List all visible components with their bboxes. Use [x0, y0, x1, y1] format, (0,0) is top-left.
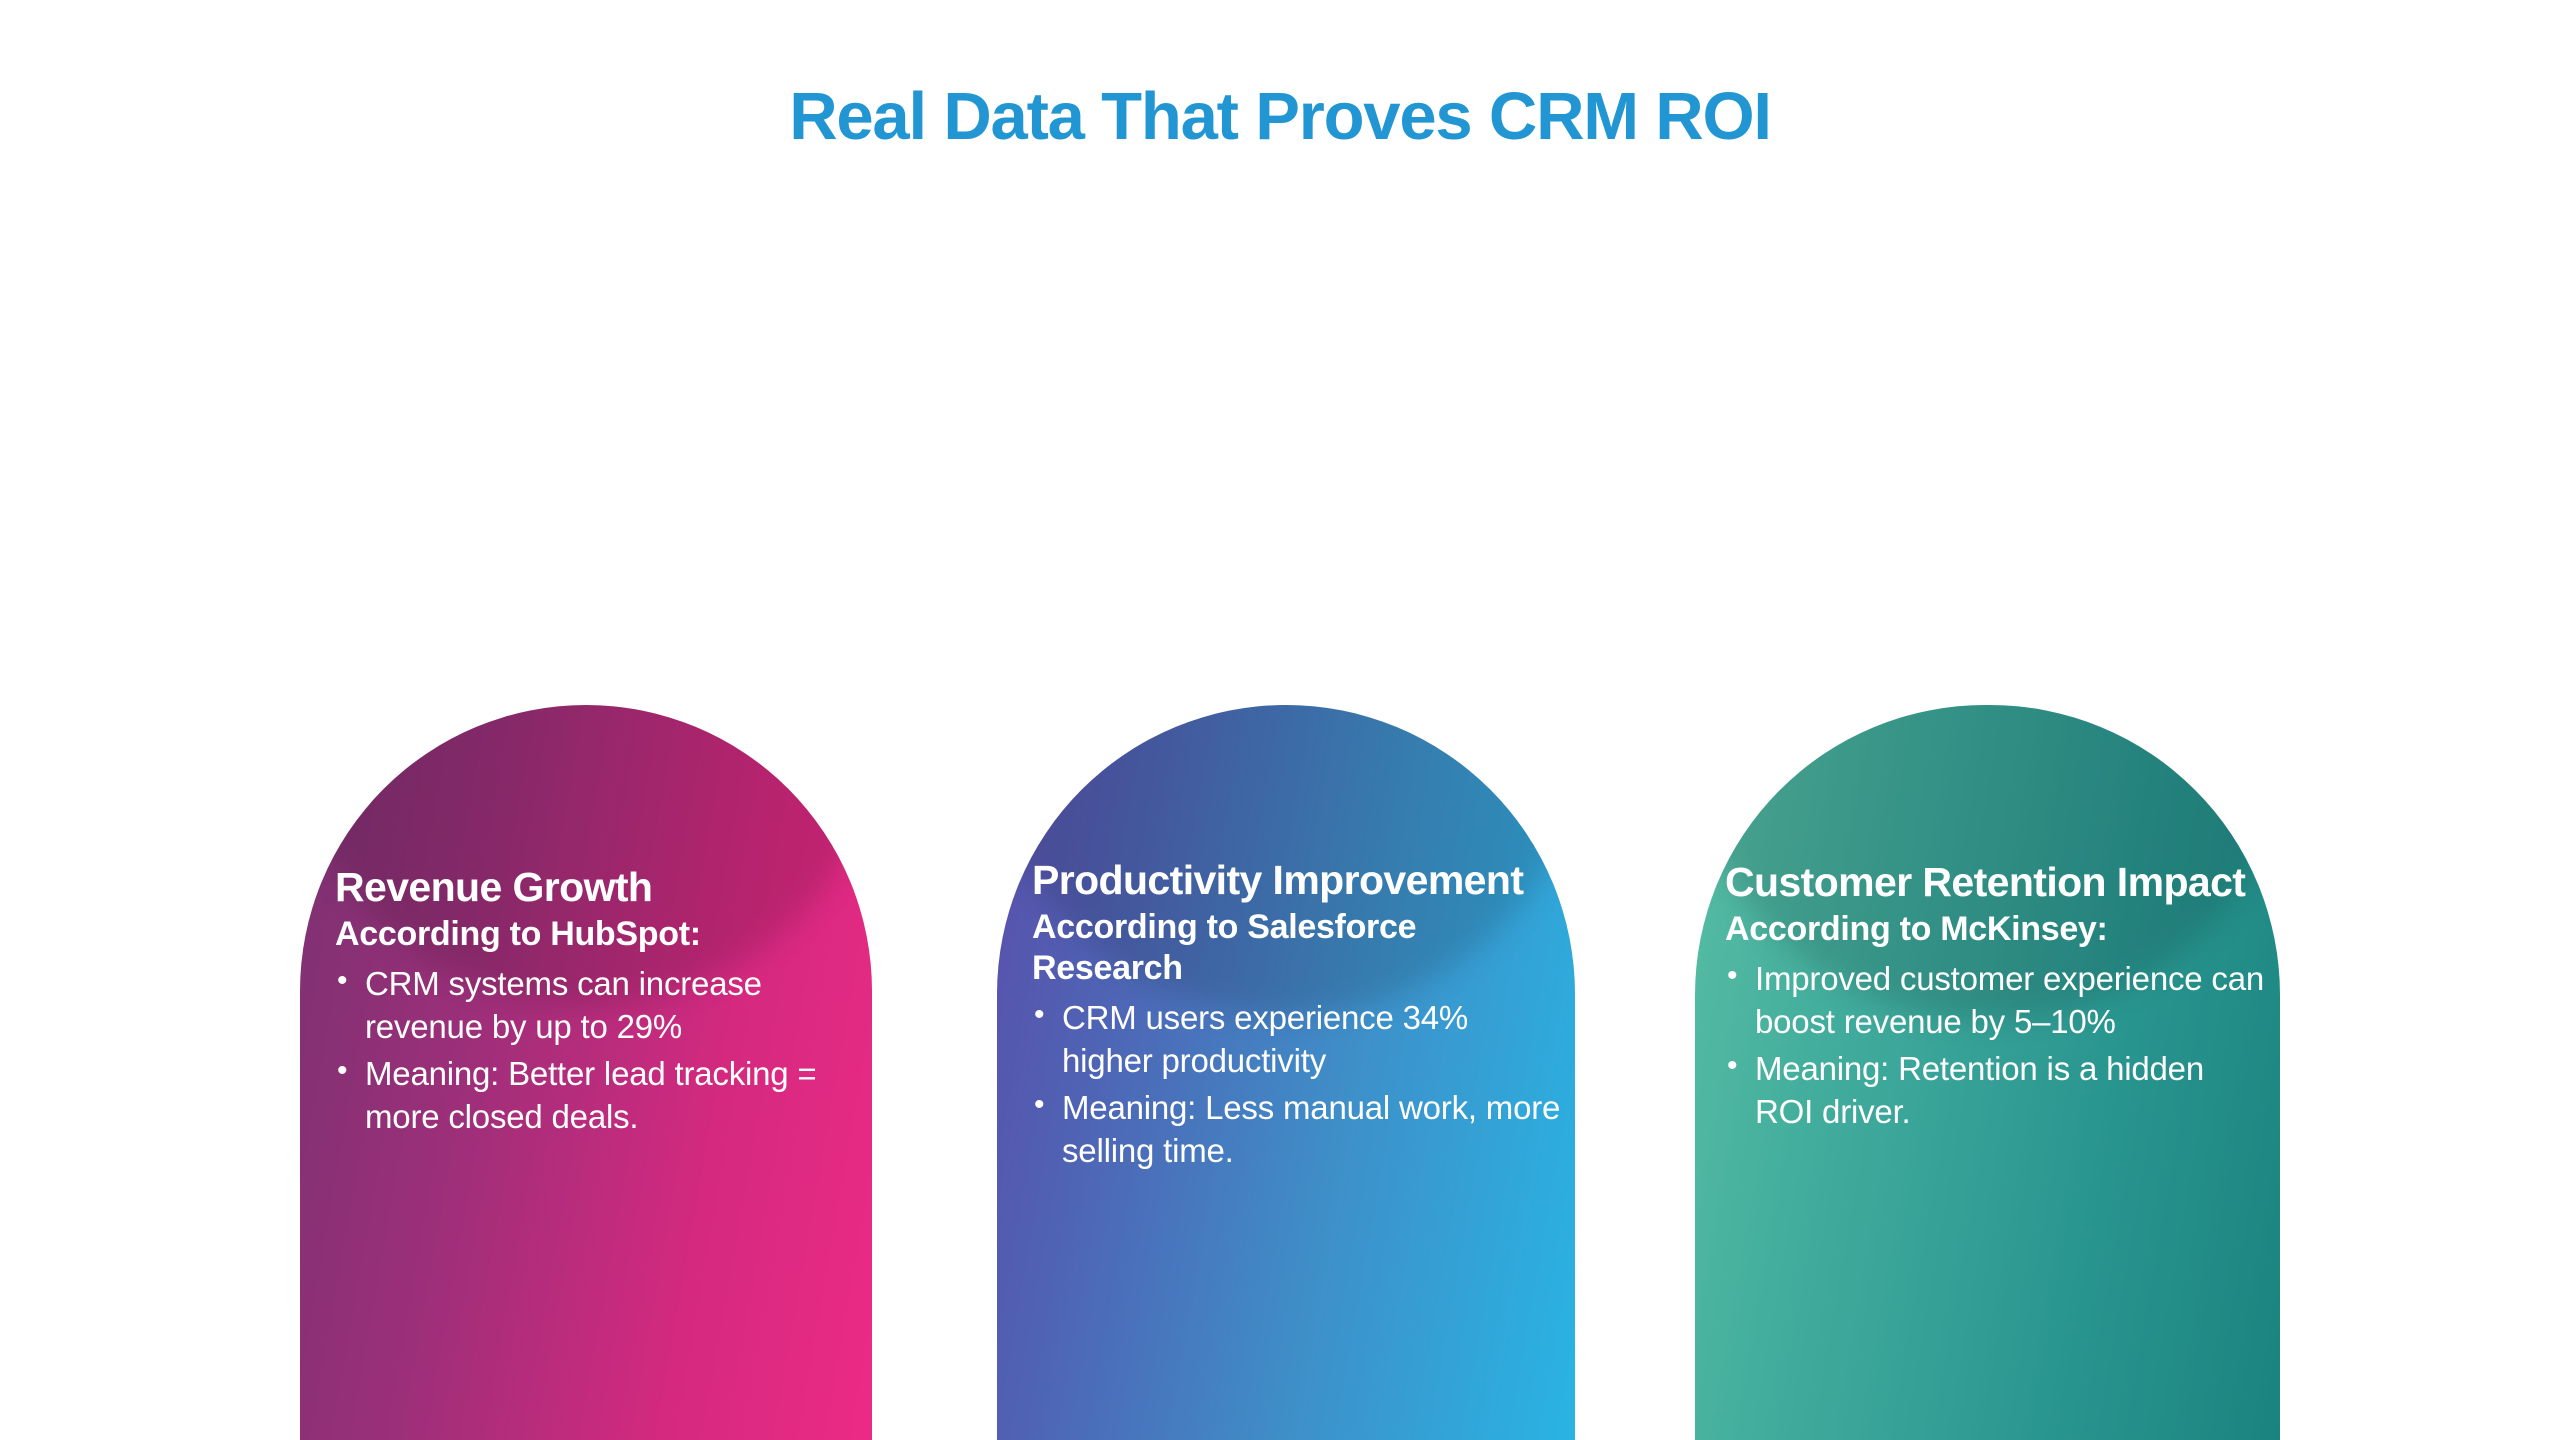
list-item: Meaning: Less manual work, more selling … — [1032, 1086, 1562, 1173]
card-text-block: Productivity Improvement According to Sa… — [1032, 858, 1562, 1176]
card-bullet-list: CRM users experience 34% higher producti… — [1032, 996, 1562, 1173]
card-heading: Customer Retention Impact — [1725, 860, 2265, 906]
stat-card-revenue-growth[interactable]: 29% Revenue Growth According to HubSpot:… — [300, 250, 872, 1440]
card-text-block: Revenue Growth According to HubSpot: CRM… — [335, 865, 855, 1142]
card-bullet-list: CRM systems can increase revenue by up t… — [335, 962, 855, 1139]
stat-card-customer-retention-impact[interactable]: 5- 10% Customer Retention Impact Accordi… — [1695, 250, 2280, 1440]
card-source: According to HubSpot: — [335, 914, 855, 955]
list-item: Meaning: Retention is a hidden ROI drive… — [1725, 1047, 2265, 1134]
card-heading: Revenue Growth — [335, 865, 855, 911]
list-item: Meaning: Better lead tracking = more clo… — [335, 1052, 855, 1139]
card-text-block: Customer Retention Impact According to M… — [1725, 860, 2265, 1137]
list-item: CRM systems can increase revenue by up t… — [335, 962, 855, 1049]
list-item: Improved customer experience can boost r… — [1725, 957, 2265, 1044]
list-item: CRM users experience 34% higher producti… — [1032, 996, 1562, 1083]
card-heading: Productivity Improvement — [1032, 858, 1562, 904]
stat-card-productivity-improvement[interactable]: 34% Productivity Improvement According t… — [997, 250, 1575, 1440]
card-source: According to Salesforce Research — [1032, 907, 1562, 989]
stat-card-deck: 29% Revenue Growth According to HubSpot:… — [0, 0, 2560, 1440]
card-source: According to McKinsey: — [1725, 909, 2265, 950]
card-bullet-list: Improved customer experience can boost r… — [1725, 957, 2265, 1134]
